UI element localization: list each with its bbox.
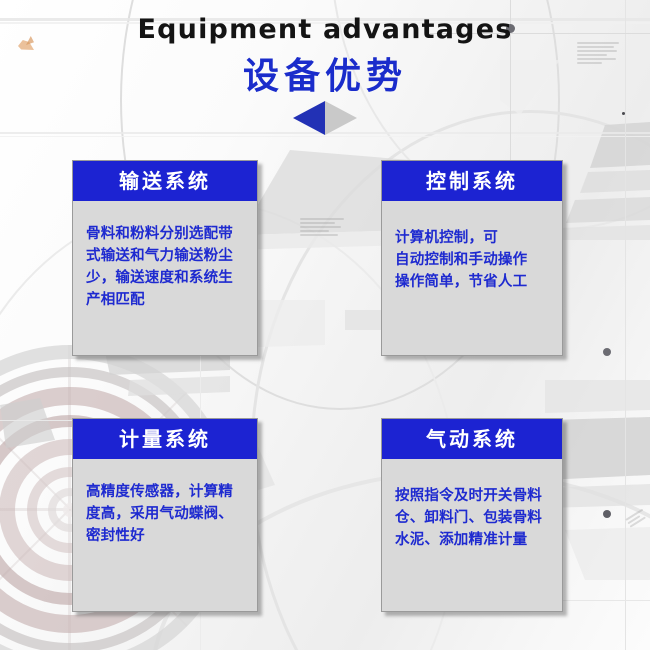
advantage-card-metering-system[interactable]: 计量系统 高精度传感器，计算精度高，采用气动蝶阀、密封性好 (72, 418, 258, 612)
slide-canvas: Equipment advantages 设备优势 输送系统 骨料和粉料分别选配… (0, 0, 650, 650)
card-body-text: 按照指令及时开关骨料仓、卸料门、包装骨料 水泥、添加精准计量 (382, 459, 562, 561)
advantage-card-control-system[interactable]: 控制系统 计算机控制，可 自动控制和手动操作 操作简单，节省人工 (381, 160, 563, 356)
advantage-card-conveying-system[interactable]: 输送系统 骨料和粉料分别选配带式输送和气力输送粉尘少，输送速度和系统生产相匹配 (72, 160, 258, 356)
background-ghost-text (300, 218, 344, 238)
card-title: 控制系统 (382, 161, 562, 201)
advantage-card-pneumatic-system[interactable]: 气动系统 按照指令及时开关骨料仓、卸料门、包装骨料 水泥、添加精准计量 (381, 418, 563, 612)
background-marker-dot (603, 348, 611, 356)
card-body-text: 骨料和粉料分别选配带式输送和气力输送粉尘少，输送速度和系统生产相匹配 (73, 201, 257, 321)
page-title-english: Equipment advantages (0, 14, 650, 45)
card-title: 计量系统 (73, 419, 257, 459)
arrow-wrap (0, 101, 650, 135)
background-ghost-text (625, 509, 648, 530)
left-triangle-marker-icon (293, 101, 357, 135)
page-title-chinese: 设备优势 (0, 47, 650, 99)
card-title: 气动系统 (382, 419, 562, 459)
card-body-text: 计算机控制，可 自动控制和手动操作 操作简单，节省人工 (382, 201, 562, 303)
background-marker-dot (603, 510, 611, 518)
card-title: 输送系统 (73, 161, 257, 201)
slide-header: Equipment advantages 设备优势 (0, 0, 650, 135)
card-body-text: 高精度传感器，计算精度高，采用气动蝶阀、密封性好 (73, 459, 257, 557)
